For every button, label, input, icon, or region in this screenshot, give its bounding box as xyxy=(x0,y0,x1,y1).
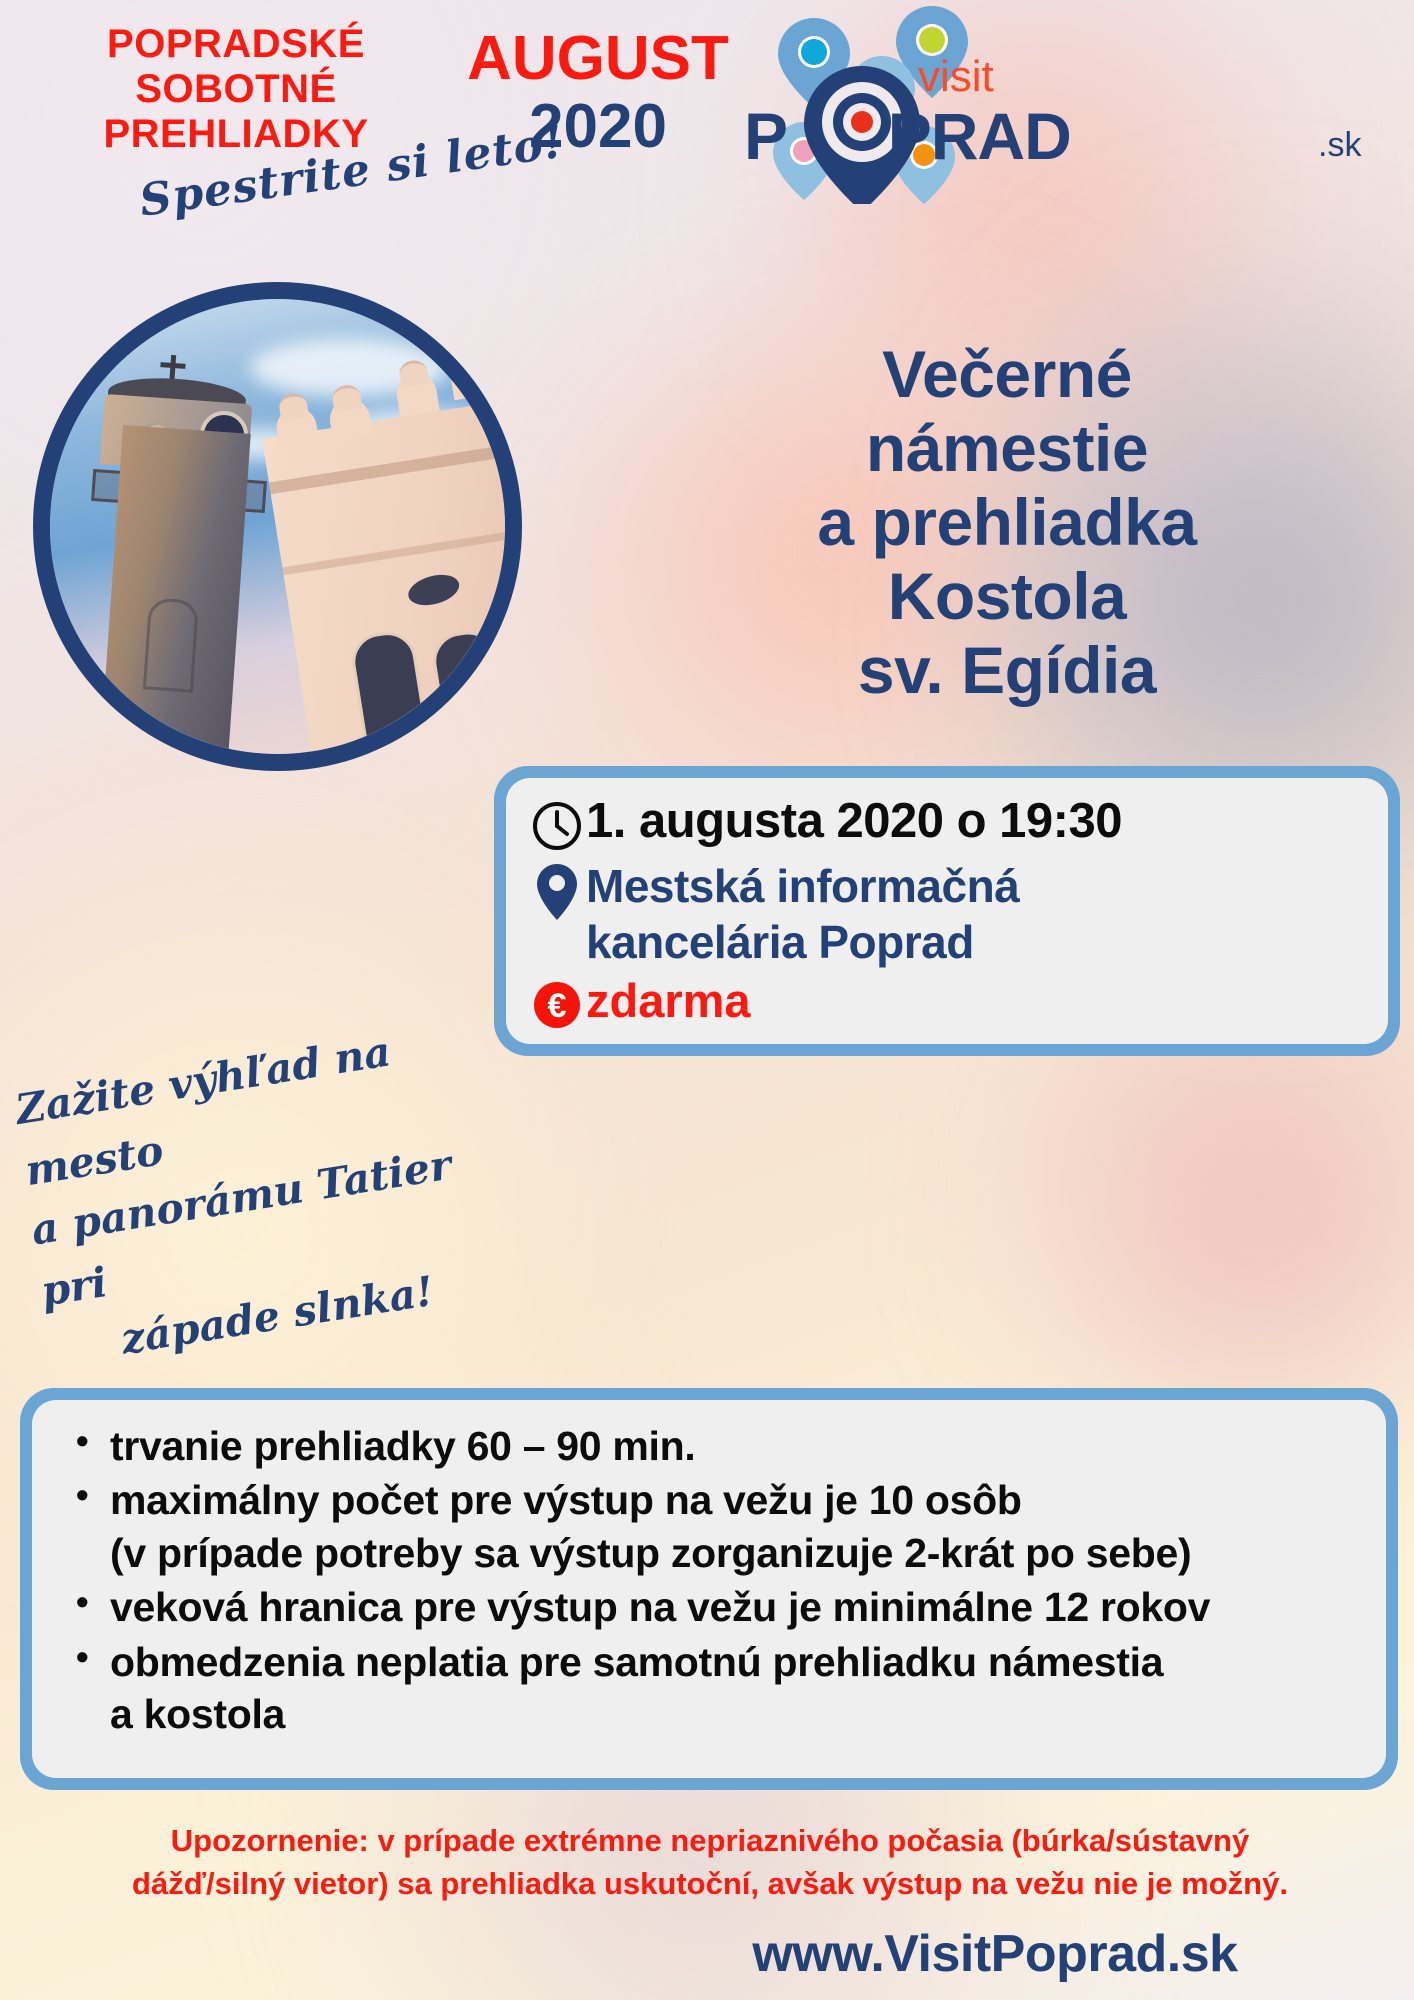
svg-text:€: € xyxy=(548,987,567,1025)
event-headline-line-1: Večerné xyxy=(612,338,1402,412)
series-title: POPRADSKÉ SOBOTNÉ PREHLIADKY xyxy=(46,22,426,156)
note-subtext: a kostola xyxy=(110,1688,1352,1740)
church-photo-image xyxy=(50,299,505,754)
event-price: zdarma xyxy=(586,976,751,1025)
event-notes-box: trvanie prehliadky 60 – 90 min. maximáln… xyxy=(20,1388,1398,1790)
logo-wordmark-suffix: PRAD xyxy=(888,99,1071,173)
photo-arch-window xyxy=(429,627,505,754)
photo-bell-tower xyxy=(97,425,250,754)
website-url[interactable]: www.VisitPoprad.sk xyxy=(600,1924,1390,1984)
photo-tower-window xyxy=(143,597,199,692)
list-item: trvanie prehliadky 60 – 90 min. xyxy=(66,1420,1352,1472)
list-item: obmedzenia neplatia pre samotnú prehliad… xyxy=(66,1636,1352,1741)
event-place-line-1: Mestská informačná xyxy=(586,858,1019,914)
event-place: Mestská informačná kancelária Poprad xyxy=(586,858,1019,970)
event-details-inner: 1. augusta 2020 o 19:30 Mestská informač… xyxy=(506,778,1388,1044)
event-headline-line-3: a prehliadka xyxy=(612,486,1402,560)
event-headline-line-5: sv. Egídia xyxy=(612,634,1402,708)
series-title-line-1: POPRADSKÉ xyxy=(46,22,426,67)
church-photo xyxy=(33,282,522,771)
event-notes-list: trvanie prehliadky 60 – 90 min. maximáln… xyxy=(66,1420,1352,1741)
logo-visit-text: visit xyxy=(918,52,994,102)
event-price-row: € zdarma xyxy=(528,976,1366,1030)
note-text: maximálny počet pre výstup na vežu je 10… xyxy=(110,1477,1022,1523)
event-headline: Večerné námestie a prehliadka Kostola sv… xyxy=(612,338,1402,708)
event-headline-line-4: Kostola xyxy=(612,560,1402,634)
photo-arch-window xyxy=(348,628,434,754)
event-date-row: 1. augusta 2020 o 19:30 xyxy=(528,796,1366,852)
weather-warning-line-2: dážď/silný vietor) sa prehliadka uskutoč… xyxy=(60,1863,1360,1906)
photo-cornice xyxy=(282,516,505,576)
poster-canvas: POPRADSKÉ SOBOTNÉ PREHLIADKY AUGUST 2020… xyxy=(0,0,1414,2000)
euro-icon: € xyxy=(528,976,586,1030)
clock-icon xyxy=(528,796,586,852)
event-place-row: Mestská informačná kancelária Poprad xyxy=(528,858,1366,970)
list-item: veková hranica pre výstup na vežu je min… xyxy=(66,1581,1352,1633)
month-label: AUGUST xyxy=(448,30,748,89)
note-text: obmedzenia neplatia pre samotnú prehliad… xyxy=(110,1639,1163,1685)
event-details-box: 1. augusta 2020 o 19:30 Mestská informač… xyxy=(494,766,1400,1056)
map-pin-icon xyxy=(528,858,586,922)
note-text: trvanie prehliadky 60 – 90 min. xyxy=(110,1423,695,1469)
event-place-line-2: kancelária Poprad xyxy=(586,914,1019,970)
logo-wordmark-prefix: P xyxy=(744,99,787,173)
script-note: Zažite výhľad na mesto a panorámu Tatier… xyxy=(10,1042,510,1350)
logo-wordmark: POOPRAD xyxy=(744,98,1071,174)
event-headline-line-2: námestie xyxy=(612,412,1402,486)
series-title-line-2: SOBOTNÉ xyxy=(46,67,426,112)
event-notes-inner: trvanie prehliadky 60 – 90 min. maximáln… xyxy=(32,1400,1386,1778)
weather-warning-line-1: Upozornenie: v prípade extrémne nepriazn… xyxy=(60,1820,1360,1863)
logo-tld: .sk xyxy=(1318,126,1361,165)
weather-warning: Upozornenie: v prípade extrémne nepriazn… xyxy=(60,1820,1360,1906)
list-item: maximálny počet pre výstup na vežu je 10… xyxy=(66,1474,1352,1579)
note-text: veková hranica pre výstup na vežu je min… xyxy=(110,1584,1210,1630)
event-date: 1. augusta 2020 o 19:30 xyxy=(586,796,1122,847)
photo-oval-window xyxy=(405,570,462,611)
note-subtext: (v prípade potreby sa výstup zorganizuje… xyxy=(110,1527,1352,1579)
